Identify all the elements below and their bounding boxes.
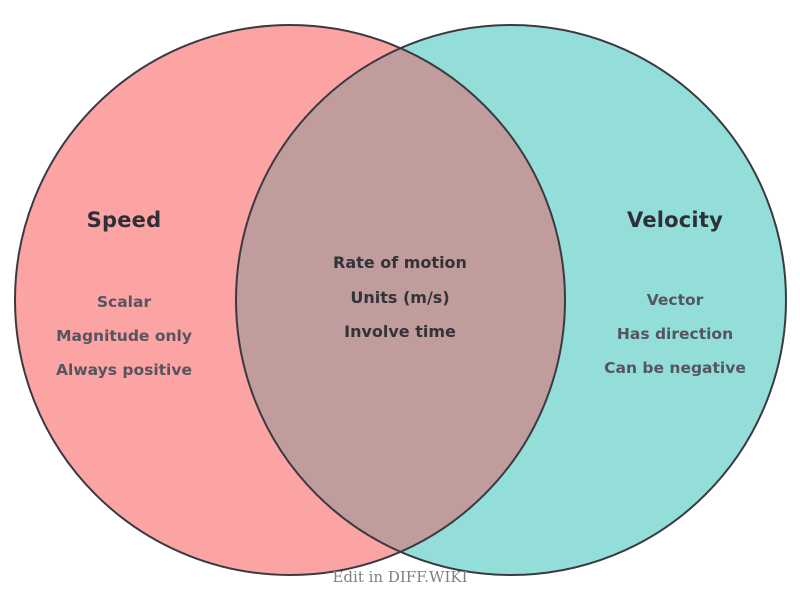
list-item: Scalar bbox=[24, 285, 224, 319]
list-item: Magnitude only bbox=[24, 319, 224, 353]
list-item: Vector bbox=[575, 283, 775, 317]
left-set-item-list: Scalar Magnitude only Always positive bbox=[24, 285, 224, 387]
right-set-title: Velocity bbox=[575, 208, 775, 232]
list-item: Can be negative bbox=[575, 351, 775, 385]
venn-diagram-canvas: Speed Scalar Magnitude only Always posit… bbox=[0, 0, 800, 600]
left-set-title: Speed bbox=[24, 208, 224, 232]
edit-in-diff-wiki-link[interactable]: Edit in DIFF.WIKI bbox=[0, 568, 800, 586]
intersection-labels: Rate of motion Units (m/s) Involve time bbox=[300, 246, 500, 350]
right-set-item-list: Vector Has direction Can be negative bbox=[575, 283, 775, 385]
intersection-item-list: Rate of motion Units (m/s) Involve time bbox=[300, 246, 500, 350]
left-set-labels: Speed Scalar Magnitude only Always posit… bbox=[24, 208, 224, 387]
list-item: Always positive bbox=[24, 353, 224, 387]
list-item: Rate of motion bbox=[300, 246, 500, 281]
right-set-labels: Velocity Vector Has direction Can be neg… bbox=[575, 208, 775, 385]
list-item: Units (m/s) bbox=[300, 281, 500, 316]
list-item: Involve time bbox=[300, 315, 500, 350]
list-item: Has direction bbox=[575, 317, 775, 351]
